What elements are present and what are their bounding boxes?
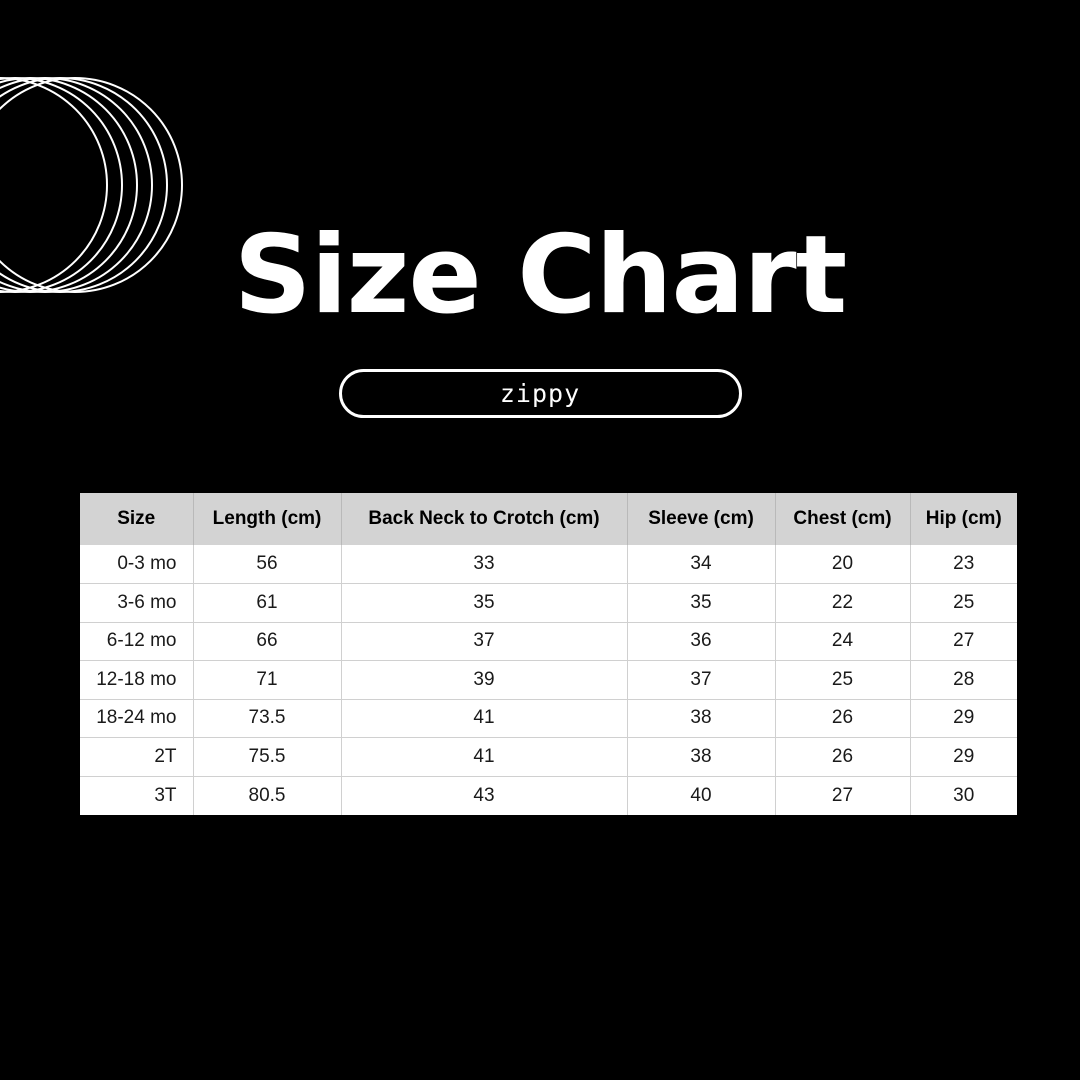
- cell-length: 61: [193, 584, 341, 623]
- column-header-size: Size: [80, 493, 193, 545]
- cell-length: 56: [193, 545, 341, 584]
- cell-hip: 27: [910, 622, 1017, 661]
- cell-size: 0-3 mo: [80, 545, 193, 584]
- cell-size: 3T: [80, 776, 193, 815]
- cell-sleeve: 37: [627, 661, 775, 700]
- size-chart-poster: Size Chart zippy Size Length (cm) Back N…: [0, 0, 1080, 1080]
- cell-length: 71: [193, 661, 341, 700]
- cell-chest: 20: [775, 545, 910, 584]
- cell-hip: 29: [910, 699, 1017, 738]
- column-header-back-neck-to-crotch: Back Neck to Crotch (cm): [341, 493, 627, 545]
- table-row: 3T 80.5 43 40 27 30: [80, 776, 1017, 815]
- size-table-head: Size Length (cm) Back Neck to Crotch (cm…: [80, 493, 1017, 545]
- cell-back-neck-to-crotch: 39: [341, 661, 627, 700]
- column-header-chest: Chest (cm): [775, 493, 910, 545]
- cell-hip: 29: [910, 738, 1017, 777]
- cell-sleeve: 40: [627, 776, 775, 815]
- cell-chest: 26: [775, 699, 910, 738]
- cell-back-neck-to-crotch: 33: [341, 545, 627, 584]
- cell-size: 12-18 mo: [80, 661, 193, 700]
- cell-chest: 24: [775, 622, 910, 661]
- cell-length: 73.5: [193, 699, 341, 738]
- cell-size: 6-12 mo: [80, 622, 193, 661]
- cell-back-neck-to-crotch: 41: [341, 738, 627, 777]
- brand-badge: zippy: [339, 369, 742, 418]
- cell-length: 75.5: [193, 738, 341, 777]
- cell-back-neck-to-crotch: 41: [341, 699, 627, 738]
- cell-length: 66: [193, 622, 341, 661]
- cell-sleeve: 38: [627, 738, 775, 777]
- table-row: 2T 75.5 41 38 26 29: [80, 738, 1017, 777]
- cell-size: 18-24 mo: [80, 699, 193, 738]
- cell-sleeve: 34: [627, 545, 775, 584]
- size-table-body: 0-3 mo 56 33 34 20 23 3-6 mo 61 35 35 22…: [80, 545, 1017, 815]
- cell-chest: 27: [775, 776, 910, 815]
- cell-hip: 23: [910, 545, 1017, 584]
- table-row: 3-6 mo 61 35 35 22 25: [80, 584, 1017, 623]
- cell-size: 3-6 mo: [80, 584, 193, 623]
- cell-sleeve: 38: [627, 699, 775, 738]
- cell-sleeve: 35: [627, 584, 775, 623]
- size-table: Size Length (cm) Back Neck to Crotch (cm…: [80, 493, 1017, 815]
- cell-chest: 25: [775, 661, 910, 700]
- page-title: Size Chart: [0, 222, 1080, 330]
- table-header-row: Size Length (cm) Back Neck to Crotch (cm…: [80, 493, 1017, 545]
- table-row: 0-3 mo 56 33 34 20 23: [80, 545, 1017, 584]
- cell-size: 2T: [80, 738, 193, 777]
- column-header-sleeve: Sleeve (cm): [627, 493, 775, 545]
- size-table-wrapper: Size Length (cm) Back Neck to Crotch (cm…: [80, 493, 1017, 815]
- table-row: 6-12 mo 66 37 36 24 27: [80, 622, 1017, 661]
- cell-hip: 25: [910, 584, 1017, 623]
- cell-back-neck-to-crotch: 35: [341, 584, 627, 623]
- cell-sleeve: 36: [627, 622, 775, 661]
- column-header-length: Length (cm): [193, 493, 341, 545]
- table-row: 18-24 mo 73.5 41 38 26 29: [80, 699, 1017, 738]
- cell-back-neck-to-crotch: 37: [341, 622, 627, 661]
- column-header-hip: Hip (cm): [910, 493, 1017, 545]
- cell-hip: 28: [910, 661, 1017, 700]
- cell-chest: 22: [775, 584, 910, 623]
- brand-badge-wrapper: zippy: [0, 369, 1080, 418]
- cell-hip: 30: [910, 776, 1017, 815]
- cell-chest: 26: [775, 738, 910, 777]
- cell-back-neck-to-crotch: 43: [341, 776, 627, 815]
- table-row: 12-18 mo 71 39 37 25 28: [80, 661, 1017, 700]
- cell-length: 80.5: [193, 776, 341, 815]
